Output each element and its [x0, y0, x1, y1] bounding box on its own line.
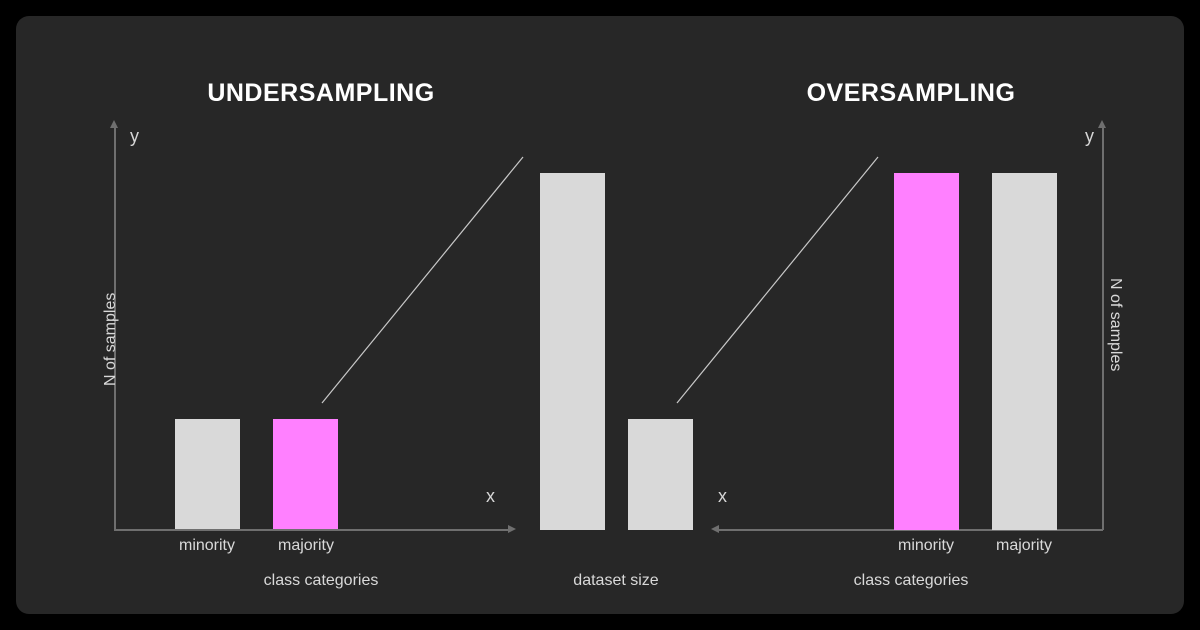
- bar-left-majority: [273, 419, 338, 529]
- left-x-axis-arrow-icon: [508, 525, 516, 533]
- bar-left-minority: [175, 419, 240, 529]
- infographic-root: UNDERSAMPLING OVERSAMPLING y x N of samp…: [0, 0, 1200, 630]
- middle-caption: dataset size: [466, 572, 766, 590]
- bar-right-majority: [992, 173, 1057, 530]
- left-y-axis-arrow-icon: [110, 120, 118, 128]
- bar-dataset-size-after: [628, 419, 693, 530]
- content-panel: UNDERSAMPLING OVERSAMPLING y x N of samp…: [16, 16, 1184, 614]
- right-y-axis: [1102, 128, 1104, 530]
- left-x-axis: [114, 529, 508, 531]
- tick-label-left-majority: majority: [206, 537, 406, 555]
- right-x-axis-arrow-icon: [711, 525, 719, 533]
- left-x-axis-letter: x: [486, 486, 495, 507]
- left-x-axis-caption: class categories: [171, 572, 471, 590]
- right-y-axis-label: N of samples: [1106, 278, 1124, 371]
- right-x-axis-letter: x: [718, 486, 727, 507]
- bar-right-minority: [894, 173, 959, 530]
- undersampling-title: UNDERSAMPLING: [121, 79, 521, 108]
- right-y-axis-arrow-icon: [1098, 120, 1106, 128]
- left-y-axis-letter: y: [130, 126, 139, 147]
- right-y-axis-letter: y: [1085, 126, 1094, 147]
- tick-label-right-majority: majority: [924, 537, 1124, 555]
- right-x-axis-caption: class categories: [761, 572, 1061, 590]
- bar-dataset-size-before: [540, 173, 605, 530]
- left-y-axis-label: N of samples: [102, 293, 120, 386]
- oversampling-title: OVERSAMPLING: [711, 79, 1111, 108]
